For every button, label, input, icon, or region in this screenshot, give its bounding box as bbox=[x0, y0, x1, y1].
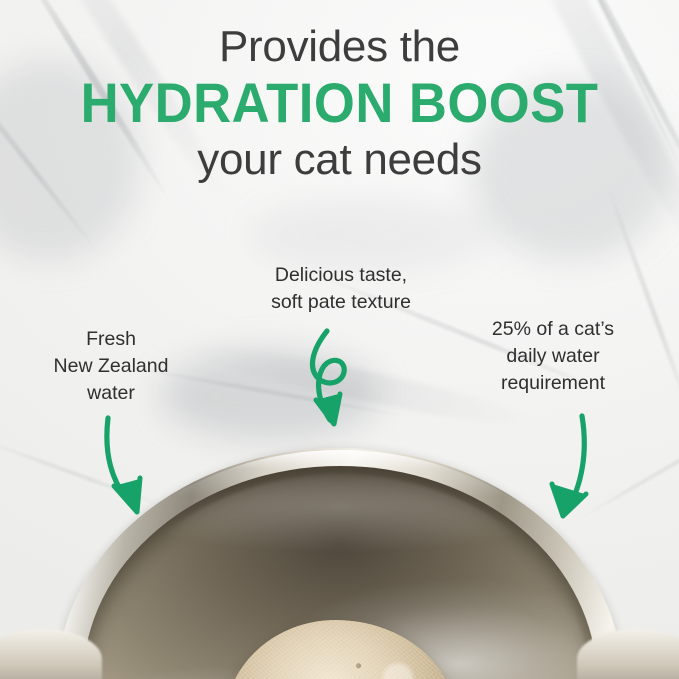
callout-fresh-new-zealand-water: Fresh New Zealand water bbox=[28, 326, 194, 407]
stainless-steel-bowl bbox=[0, 430, 679, 679]
callout-delicious-taste: Delicious taste, soft pate texture bbox=[234, 262, 448, 316]
callout-daily-water-requirement: 25% of a cat’s daily water requirement bbox=[458, 316, 648, 397]
headline: Provides the HYDRATION BOOST your cat ne… bbox=[0, 22, 679, 186]
promo-image: Provides the HYDRATION BOOST your cat ne… bbox=[0, 0, 679, 679]
headline-line-2-accent: HYDRATION BOOST bbox=[20, 72, 658, 134]
headline-line-3: your cat needs bbox=[0, 134, 679, 186]
headline-line-1: Provides the bbox=[0, 22, 679, 72]
